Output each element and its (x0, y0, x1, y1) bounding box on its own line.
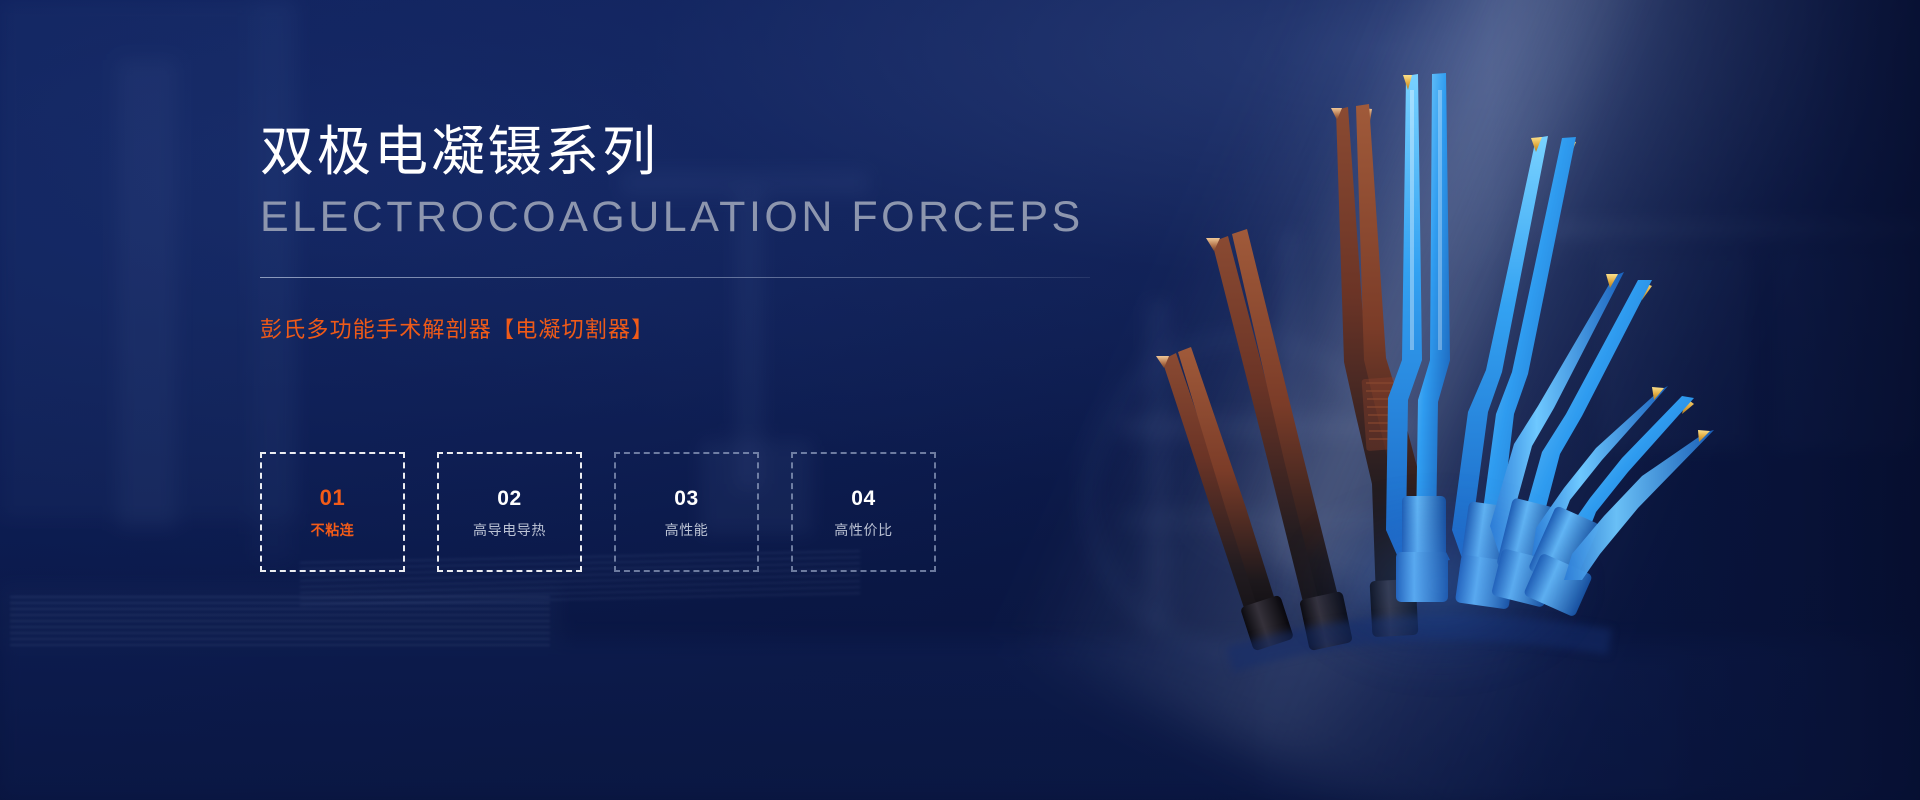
feature-number: 01 (320, 487, 346, 509)
page-title-english: ELECTROCOAGULATION FORCEPS (260, 192, 1100, 243)
feature-item-04[interactable]: 04 高性价比 (791, 452, 936, 572)
feature-label: 高性能 (665, 523, 709, 537)
feature-label: 不粘连 (311, 523, 355, 537)
feature-number: 02 (497, 488, 522, 509)
product-image-forceps (1090, 60, 1690, 680)
feature-label: 高导电导热 (473, 523, 546, 537)
page-subtitle: 彭氏多功能手术解剖器【电凝切割器】 (260, 312, 1100, 344)
product-glow (1290, 490, 1590, 680)
feature-number: 04 (851, 488, 876, 509)
feature-item-03[interactable]: 03 高性能 (614, 452, 759, 572)
feature-list: 01 不粘连 02 高导电导热 03 高性能 04 高性价比 (260, 452, 936, 572)
title-divider (260, 277, 1090, 278)
banner-text-block: 双极电凝镊系列 ELECTROCOAGULATION FORCEPS 彭氏多功能… (260, 120, 1100, 344)
feature-item-01[interactable]: 01 不粘连 (260, 452, 405, 572)
page-title: 双极电凝镊系列 (260, 120, 1100, 186)
feature-label: 高性价比 (834, 523, 892, 537)
feature-item-02[interactable]: 02 高导电导热 (437, 452, 582, 572)
product-banner: 双极电凝镊系列 ELECTROCOAGULATION FORCEPS 彭氏多功能… (0, 0, 1920, 800)
feature-number: 03 (674, 488, 699, 509)
